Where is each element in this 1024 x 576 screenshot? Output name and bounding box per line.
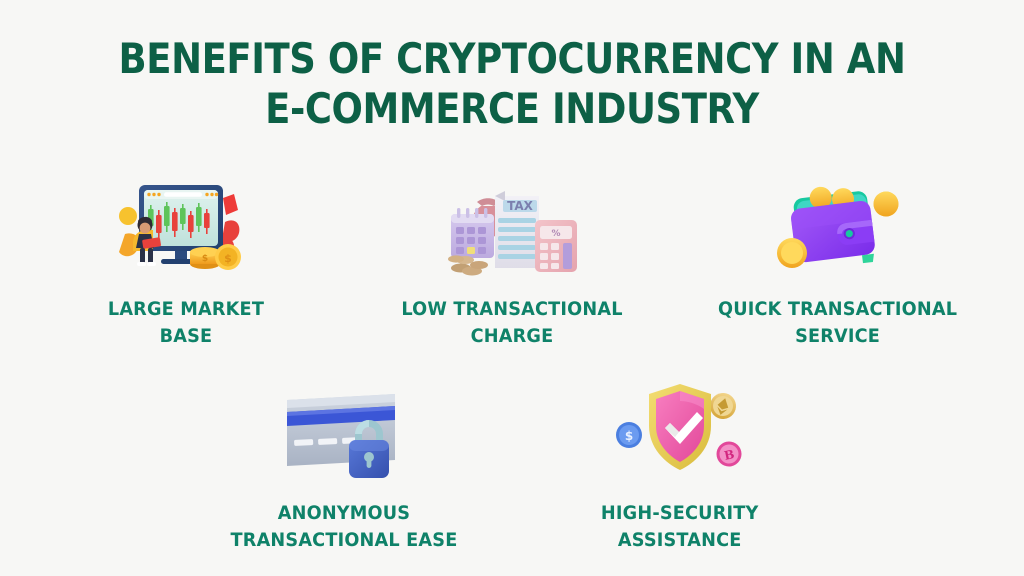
label-line-1: QUICK TRANSACTIONAL (718, 296, 957, 323)
shield-check-crypto-coins-icon: $ B (605, 378, 755, 486)
benefit-card-anonymous-transactional-ease: ANONYMOUS TRANSACTIONAL EASE (179, 378, 509, 554)
label-line-1: LARGE MARKET (108, 296, 264, 323)
tax-document-calculator-icon: $ TAX (437, 178, 587, 286)
benefits-row-bottom: ANONYMOUS TRANSACTIONAL EASE (0, 378, 1024, 554)
benefit-label-large-market-base: LARGE MARKET BASE (108, 296, 264, 350)
benefit-card-quick-transactional-service: QUICK TRANSACTIONAL SERVICE (680, 178, 996, 350)
label-line-2: BASE (108, 323, 264, 350)
benefit-label-anonymous-transactional-ease: ANONYMOUS TRANSACTIONAL EASE (231, 500, 458, 554)
label-line-2: CHARGE (401, 323, 622, 350)
label-line-2: ASSISTANCE (601, 527, 759, 554)
svg-text:%: % (551, 229, 560, 239)
svg-text:$: $ (625, 429, 633, 443)
benefit-label-quick-transactional-service: QUICK TRANSACTIONAL SERVICE (718, 296, 957, 350)
benefit-card-high-security-assistance: $ B (515, 378, 845, 554)
infographic-page: BENEFITS OF CRYPTOCURRENCY IN AN E-COMME… (0, 0, 1024, 576)
benefits-row-top: $ $ LARGE MARKET BASE (0, 178, 1024, 350)
wallet-coins-icon (763, 178, 913, 286)
page-title: BENEFITS OF CRYPTOCURRENCY IN AN E-COMME… (0, 34, 1024, 134)
title-line-1: BENEFITS OF CRYPTOCURRENCY IN AN (61, 34, 962, 84)
benefit-card-low-transactional-charge: $ TAX (354, 178, 670, 350)
benefit-card-large-market-base: $ $ LARGE MARKET BASE (28, 178, 344, 350)
label-line-2: SERVICE (718, 323, 957, 350)
credit-card-lock-icon (269, 378, 419, 486)
label-line-1: LOW TRANSACTIONAL (401, 296, 622, 323)
label-line-2: TRANSACTIONAL EASE (231, 527, 458, 554)
svg-text:TAX: TAX (507, 199, 534, 213)
benefit-label-low-transactional-charge: LOW TRANSACTIONAL CHARGE (401, 296, 622, 350)
label-line-1: HIGH-SECURITY (601, 500, 759, 527)
market-chart-monitor-icon: $ $ (111, 178, 261, 286)
label-line-1: ANONYMOUS (231, 500, 458, 527)
benefit-label-high-security-assistance: HIGH-SECURITY ASSISTANCE (601, 500, 759, 554)
svg-text:$: $ (224, 252, 232, 265)
svg-text:$: $ (202, 254, 208, 264)
title-line-2: E-COMMERCE INDUSTRY (61, 84, 962, 134)
